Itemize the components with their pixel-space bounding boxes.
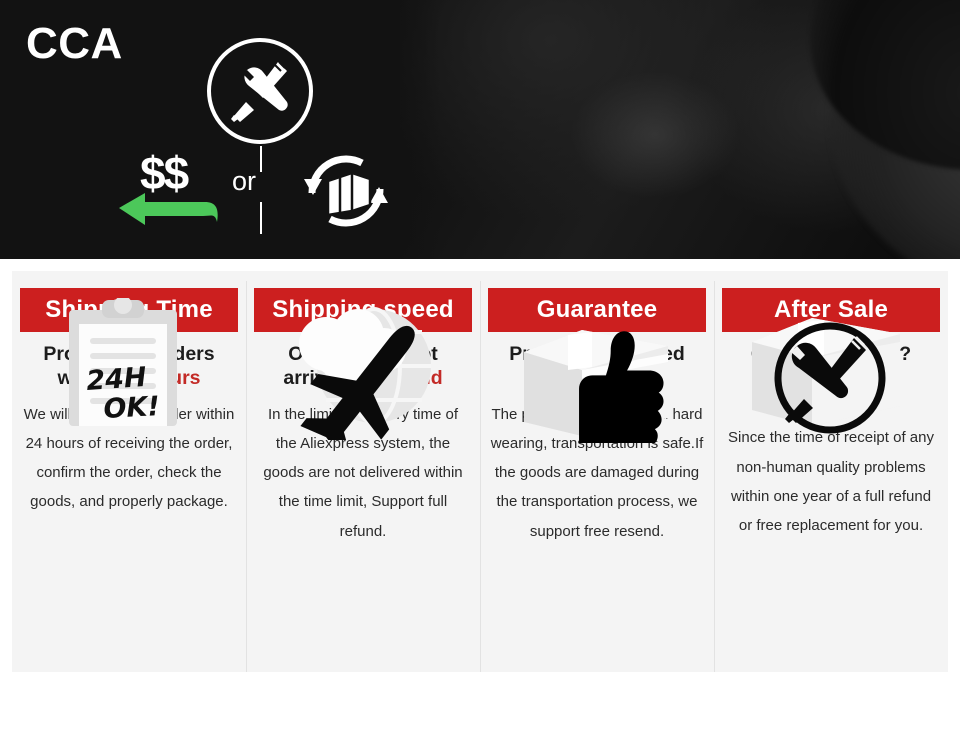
or-label: or — [232, 168, 256, 195]
money-label: $$ — [140, 150, 187, 196]
clipboard-24h-ok-icon: 24H OK! — [62, 298, 187, 433]
product-photo — [400, 0, 960, 259]
return-package-icon — [300, 145, 392, 237]
tools-icon — [207, 38, 313, 144]
carton-box-thumbs-up-icon — [516, 318, 676, 448]
hero-banner: CCA or — [0, 0, 960, 259]
svg-text:OK!: OK! — [103, 391, 161, 425]
promo-page: CCA or — [0, 0, 960, 736]
brand-logo: CCA — [26, 22, 123, 66]
carton-box-repair-tools-icon — [742, 308, 912, 443]
airplane-cloud-globe-icon — [288, 300, 440, 445]
refund-arrow-icon — [119, 192, 223, 228]
divider-line-top — [260, 146, 262, 172]
divider-line-bottom — [260, 202, 262, 234]
